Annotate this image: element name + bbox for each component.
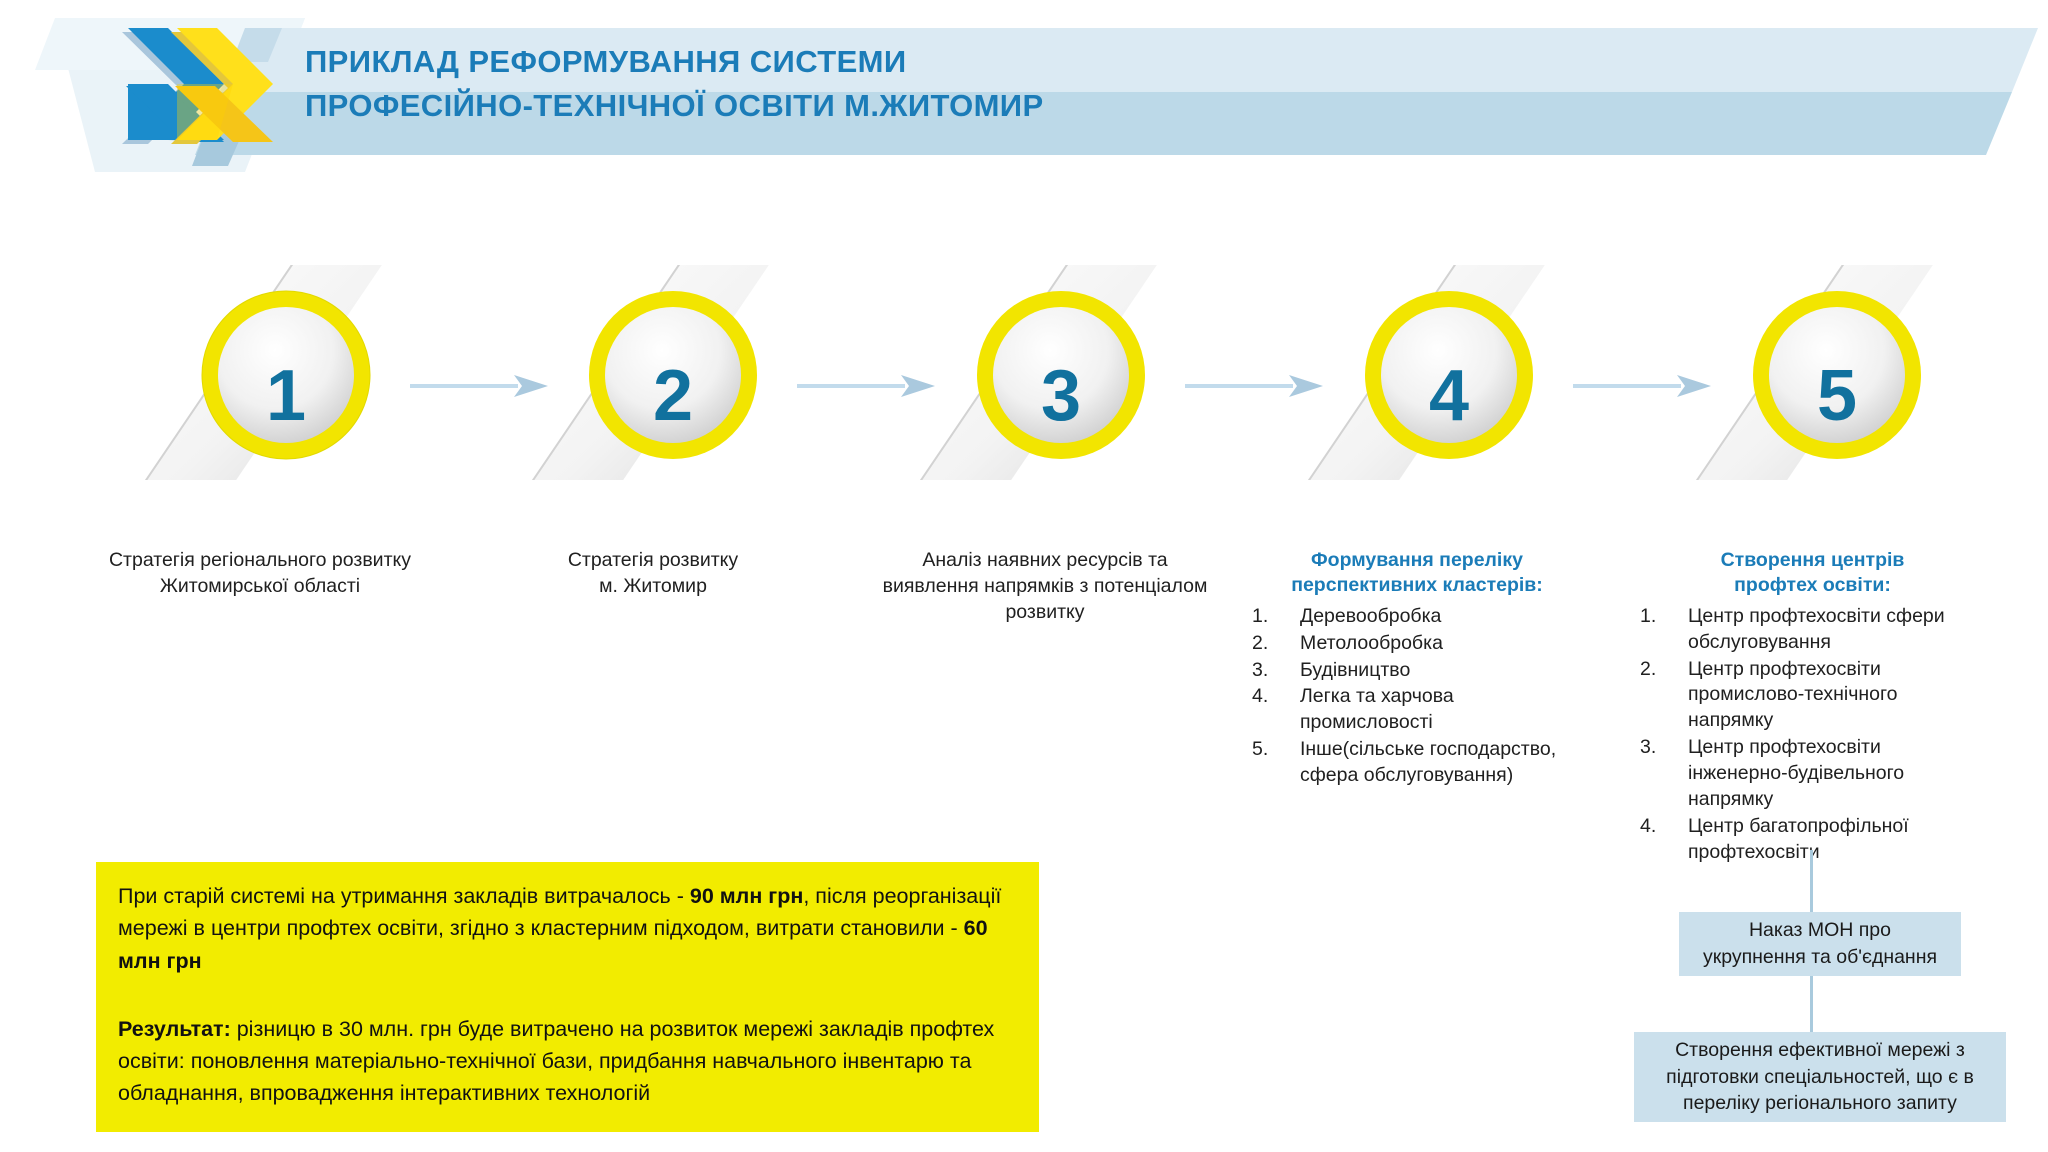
step-caption-2-line-2: м. Житомир: [508, 574, 798, 600]
step-caption-5-title: Створення центрів профтех освіти:: [1640, 548, 1985, 599]
flow-box-result-line-3: переліку регіонального запиту: [1666, 1090, 1974, 1117]
step-badge-4: 4: [1293, 265, 1553, 480]
cost-amount-old: 90 млн грн: [690, 884, 803, 908]
list-item-label: Легка та харчова промисловості: [1300, 684, 1582, 736]
list-item-index: 4.: [1252, 684, 1300, 736]
step-caption-4-title-line-2: перспективних кластерів:: [1252, 573, 1582, 598]
step-caption-2-line-1: Стратегія розвитку: [508, 548, 798, 574]
flow-box-order: Наказ МОН про укрупнення та об'єднання: [1679, 912, 1961, 976]
arrow-connector-4: [1573, 372, 1713, 400]
page-title-line-2: ПРОФЕСІЙНО-ТЕХНІЧНОЇ ОСВІТИ М.ЖИТОМИР: [305, 84, 1405, 128]
flow-box-order-line-1: Наказ МОН про: [1703, 917, 1937, 944]
flow-box-result-line-1: Створення ефективної мережі з: [1666, 1037, 1974, 1064]
list-item-index: 2.: [1640, 657, 1688, 735]
step-caption-2: Стратегія розвитку м. Житомир: [508, 548, 798, 600]
list-item-index: 1.: [1640, 604, 1688, 656]
result-text: різницю в 30 млн. грн буде витрачено на …: [118, 1017, 994, 1106]
list-item-index: 4.: [1640, 814, 1688, 866]
list-item: 1. Центр профтехосвіти сфери обслуговува…: [1640, 604, 1985, 656]
list-item-label: Метолообробка: [1300, 631, 1582, 657]
arrow-connector-3: [1185, 372, 1325, 400]
cost-text-1: При старій системі на утримання закладів…: [118, 884, 690, 908]
step-caption-1: Стратегія регіонального розвитку Житомир…: [100, 548, 420, 600]
list-item: 2. Центр профтехосвіти промислово-техніч…: [1640, 657, 1985, 735]
flow-box-result-line-2: підготовки спеціальностей, що є в: [1666, 1064, 1974, 1091]
cluster-list: 1. Деревообробка 2. Метолообробка 3. Буд…: [1252, 604, 1582, 789]
list-item-index: 1.: [1252, 604, 1300, 630]
arrow-connector-2: [797, 372, 937, 400]
step-badge-5: 5: [1681, 265, 1941, 480]
page-title-line-1: ПРИКЛАД РЕФОРМУВАННЯ СИСТЕМИ: [305, 44, 907, 79]
list-item: 3. Будівництво: [1252, 658, 1582, 684]
list-item-index: 5.: [1252, 737, 1300, 789]
step-caption-3-line-2: виявлення напрямків з потенціалом: [880, 574, 1210, 600]
step-caption-4-title: Формування переліку перспективних класте…: [1252, 548, 1582, 599]
step-badge-3: 3: [905, 265, 1165, 480]
list-item-index: 3.: [1640, 735, 1688, 813]
list-item: 4. Легка та харчова промисловості: [1252, 684, 1582, 736]
result-label: Результат:: [118, 1017, 231, 1041]
flow-box-result: Створення ефективної мережі з підготовки…: [1634, 1032, 2006, 1122]
list-item: 3. Центр профтехосвіти інженерно-будівел…: [1640, 735, 1985, 813]
step-badge-1: 1: [130, 265, 390, 480]
list-item-label: Деревообробка: [1300, 604, 1582, 630]
arrow-connector-1: [410, 372, 550, 400]
list-item-label: Інше(сільське господарство, сфера обслуг…: [1300, 737, 1582, 789]
step-caption-4: Формування переліку перспективних класте…: [1252, 548, 1582, 790]
flow-box-order-line-2: укрупнення та об'єднання: [1703, 944, 1937, 971]
cost-summary-paragraph-2: Результат: різницю в 30 млн. грн буде ви…: [118, 1013, 1017, 1110]
paragraph-spacer: [118, 977, 1017, 1013]
center-list: 1. Центр профтехосвіти сфери обслуговува…: [1640, 604, 1985, 866]
step-caption-3: Аналіз наявних ресурсів та виявлення нап…: [880, 548, 1210, 626]
list-item-label: Центр багатопрофільної профтехосвіти: [1688, 814, 1985, 866]
list-item-label: Будівництво: [1300, 658, 1582, 684]
step-caption-5: Створення центрів профтех освіти: 1. Цен…: [1640, 548, 1985, 867]
list-item-label: Центр профтехосвіти інженерно-будівельно…: [1688, 735, 1985, 813]
step-badge-2: 2: [517, 265, 777, 480]
list-item: 2. Метолообробка: [1252, 631, 1582, 657]
list-item: 1. Деревообробка: [1252, 604, 1582, 630]
cost-summary-box: При старій системі на утримання закладів…: [96, 862, 1039, 1132]
list-item-label: Центр профтехосвіти сфери обслуговування: [1688, 604, 1985, 656]
step-caption-1-line-1: Стратегія регіонального розвитку: [100, 548, 420, 574]
flow-connector-top: [1810, 850, 1813, 912]
list-item-index: 3.: [1252, 658, 1300, 684]
step-caption-4-title-line-1: Формування переліку: [1252, 548, 1582, 573]
list-item-index: 2.: [1252, 631, 1300, 657]
cost-summary-paragraph-1: При старій системі на утримання закладів…: [118, 880, 1017, 977]
list-item-label: Центр профтехосвіти промислово-технічног…: [1688, 657, 1985, 735]
step-caption-5-title-line-2: профтех освіти:: [1640, 573, 1985, 598]
step-caption-3-line-3: розвитку: [880, 600, 1210, 626]
flow-connector-bottom: [1810, 976, 1813, 1032]
step-caption-5-title-line-1: Створення центрів: [1640, 548, 1985, 573]
list-item: 5. Інше(сільське господарство, сфера обс…: [1252, 737, 1582, 789]
step-caption-1-line-2: Житомирської області: [100, 574, 420, 600]
page-title: ПРИКЛАД РЕФОРМУВАННЯ СИСТЕМИ ПРОФЕСІЙНО-…: [305, 40, 1405, 128]
step-caption-3-line-1: Аналіз наявних ресурсів та: [880, 548, 1210, 574]
